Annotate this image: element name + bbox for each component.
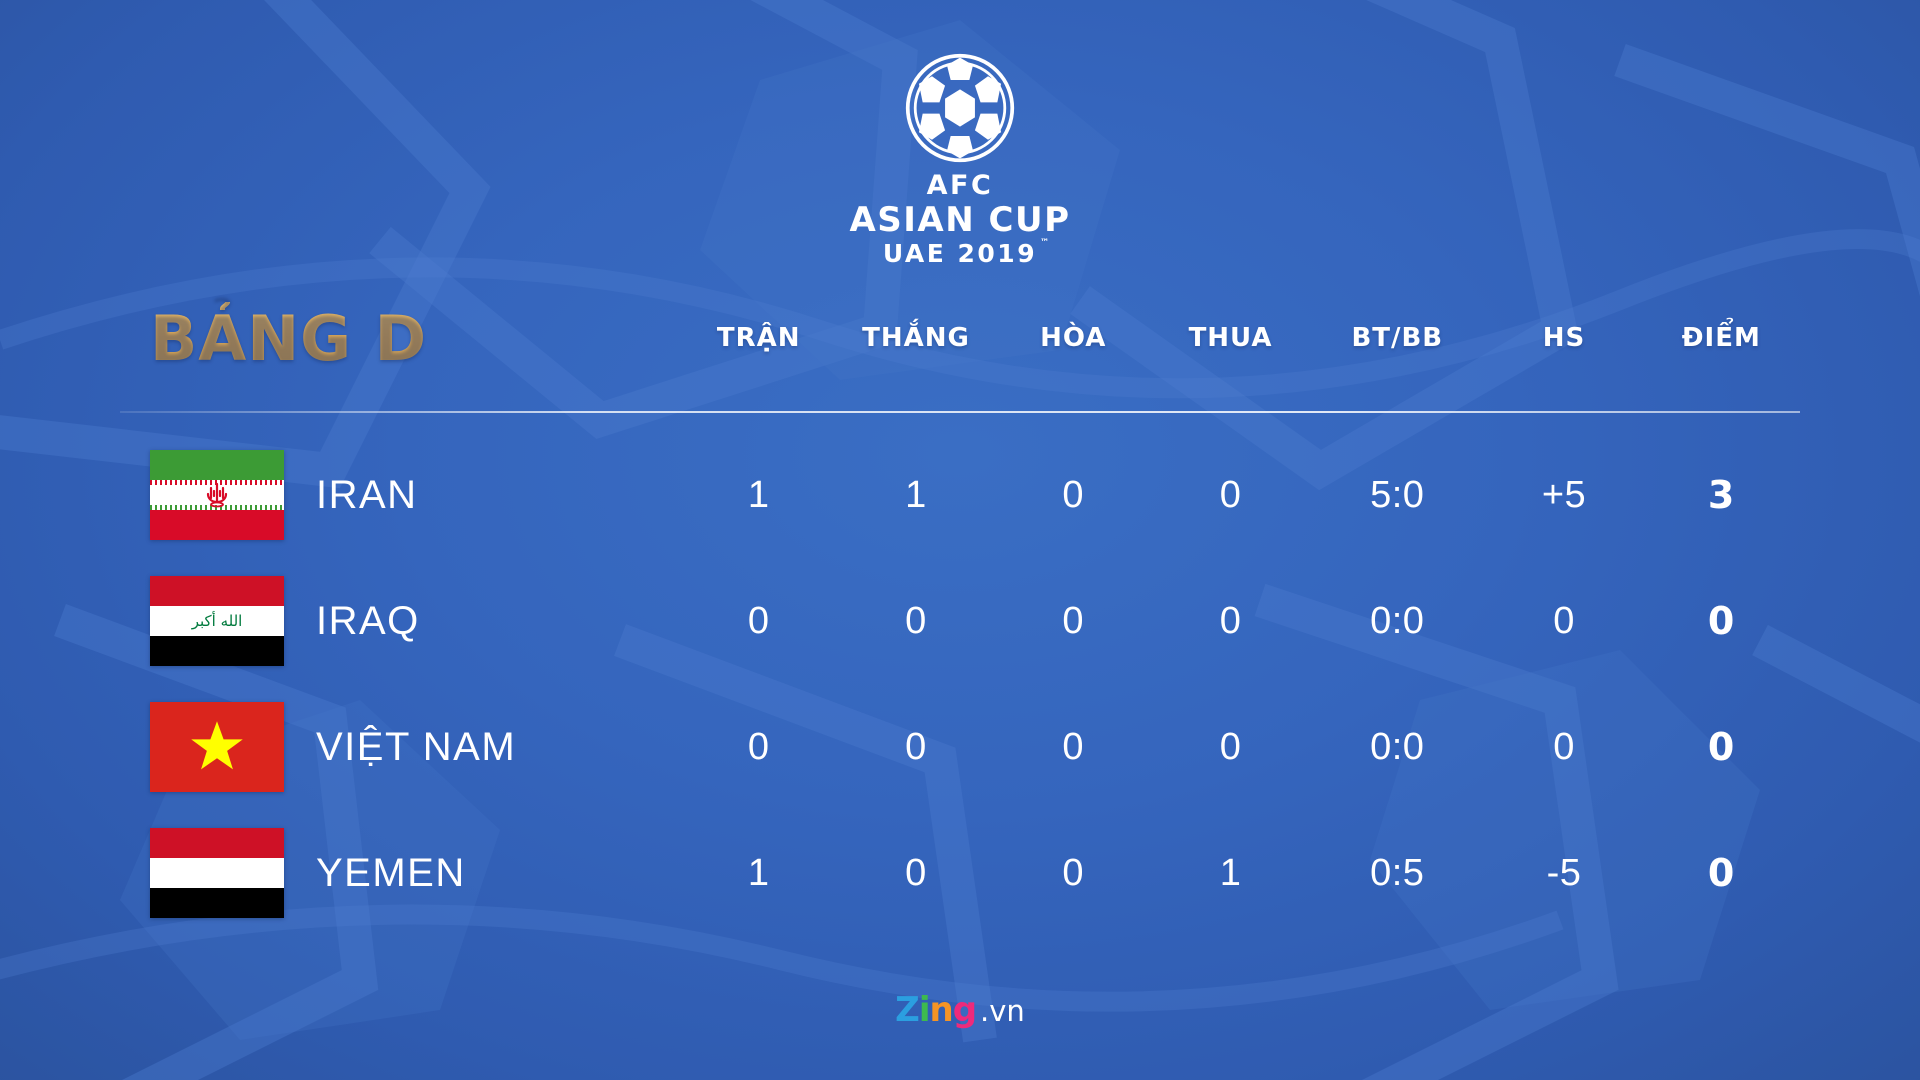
- cell-lost: 0: [1152, 474, 1309, 517]
- cell-goaldiff: 0: [1485, 600, 1642, 643]
- table-row[interactable]: VIỆT NAM 0 0 0 0 0:0 0 0: [120, 684, 1800, 810]
- cell-goals: 0:0: [1309, 600, 1485, 643]
- column-header-won: THẮNG: [837, 323, 994, 353]
- cell-drawn: 0: [995, 852, 1152, 895]
- cell-goaldiff: +5: [1485, 474, 1642, 517]
- cell-goaldiff: -5: [1485, 852, 1642, 895]
- football-icon: [904, 52, 1016, 164]
- logo-afc-text: AFC: [849, 172, 1070, 199]
- cell-points: 0: [1643, 599, 1800, 643]
- vietnam-flag: [150, 702, 284, 792]
- column-header-drawn: HÒA: [995, 323, 1152, 353]
- header-divider: [120, 411, 1800, 413]
- zing-logo[interactable]: Zing: [895, 990, 976, 1030]
- trademark-symbol: ™: [1040, 239, 1049, 248]
- team-cell: IRAN: [120, 450, 680, 540]
- iraq-flag: الله أكبر: [150, 576, 284, 666]
- star-icon: [189, 719, 245, 775]
- cell-drawn: 0: [995, 474, 1152, 517]
- column-header-goals: BT/BB: [1309, 323, 1485, 353]
- table-row[interactable]: YEMEN 1 0 0 1 0:5 -5 0: [120, 810, 1800, 936]
- cell-won: 0: [837, 852, 994, 895]
- cell-goals: 0:0: [1309, 726, 1485, 769]
- cell-played: 1: [680, 474, 837, 517]
- yemen-flag: [150, 828, 284, 918]
- team-cell: الله أكبر IRAQ: [120, 576, 680, 666]
- team-cell: YEMEN: [120, 828, 680, 918]
- cell-lost: 0: [1152, 600, 1309, 643]
- footer: Zing .vn: [0, 990, 1920, 1030]
- zing-logo-letter-z: Z: [895, 990, 919, 1030]
- team-name: IRAQ: [316, 599, 420, 644]
- logo-uae-year-text: UAE 2019: [883, 239, 1037, 268]
- cell-won: 0: [837, 726, 994, 769]
- cell-won: 1: [837, 474, 994, 517]
- cell-goals: 0:5: [1309, 852, 1485, 895]
- cell-points: 3: [1643, 473, 1800, 517]
- cell-lost: 1: [1152, 852, 1309, 895]
- table-row[interactable]: الله أكبر IRAQ 0 0 0 0 0:0 0 0: [120, 558, 1800, 684]
- tournament-logo: AFC ASIAN CUP UAE 2019 ™: [0, 52, 1920, 266]
- table-header-row: BẢNG D TRẬN THẮNG HÒA THUA BT/BB HS ĐIỂM: [120, 300, 1800, 376]
- cell-played: 0: [680, 600, 837, 643]
- column-header-goaldiff: HS: [1485, 323, 1642, 353]
- iran-flag: [150, 450, 284, 540]
- cell-points: 0: [1643, 725, 1800, 769]
- page-title: BẢNG D: [120, 302, 680, 375]
- team-name: VIỆT NAM: [316, 725, 516, 770]
- zing-logo-letter-i: i: [919, 990, 930, 1030]
- column-header-points: ĐIỂM: [1643, 323, 1800, 353]
- logo-asiancup-text: ASIAN CUP: [849, 203, 1070, 237]
- cell-goals: 5:0: [1309, 474, 1485, 517]
- iraq-flag-script: الله أكبر: [150, 606, 284, 636]
- team-cell: VIỆT NAM: [120, 702, 680, 792]
- zing-logo-letter-n: n: [929, 990, 952, 1030]
- cell-goaldiff: 0: [1485, 726, 1642, 769]
- team-name: YEMEN: [316, 851, 466, 896]
- zing-logo-letter-g: g: [953, 990, 976, 1030]
- standings-table: IRAN 1 1 0 0 5:0 +5 3 الله أكبر IRAQ 0 0…: [120, 432, 1800, 936]
- cell-points: 0: [1643, 851, 1800, 895]
- table-row[interactable]: IRAN 1 1 0 0 5:0 +5 3: [120, 432, 1800, 558]
- cell-lost: 0: [1152, 726, 1309, 769]
- team-name: IRAN: [316, 473, 418, 518]
- zing-logo-tld: .vn: [980, 994, 1025, 1028]
- column-header-played: TRẬN: [680, 323, 837, 353]
- cell-drawn: 0: [995, 726, 1152, 769]
- cell-played: 0: [680, 726, 837, 769]
- cell-played: 1: [680, 852, 837, 895]
- column-header-lost: THUA: [1152, 323, 1309, 353]
- cell-drawn: 0: [995, 600, 1152, 643]
- cell-won: 0: [837, 600, 994, 643]
